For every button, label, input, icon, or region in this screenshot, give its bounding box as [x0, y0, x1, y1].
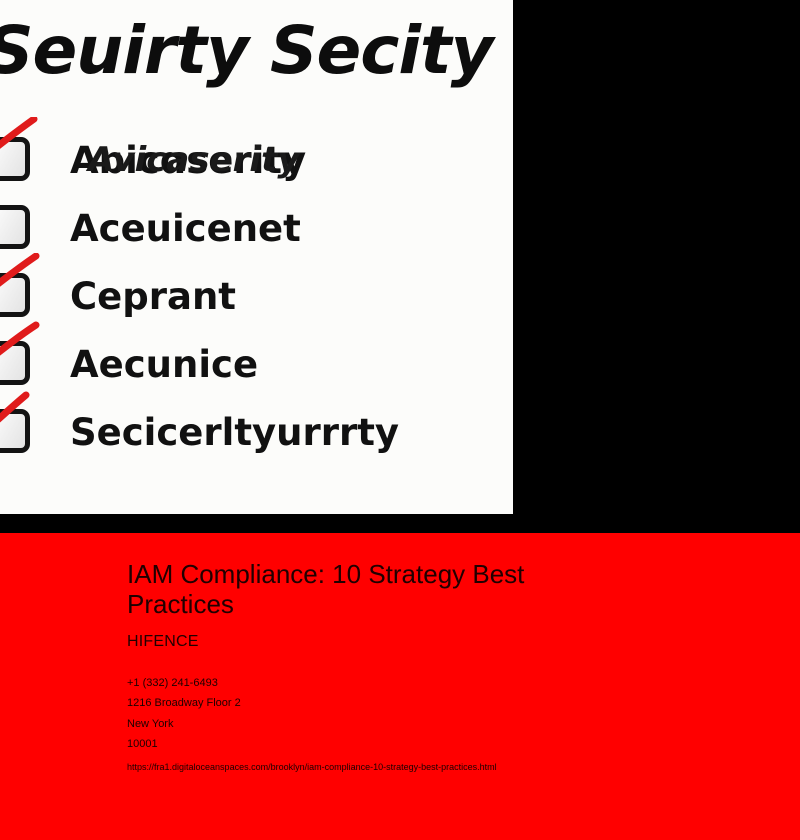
checklist-item-overlap-label: Avicaserity — [88, 143, 300, 177]
checkbox-2[interactable] — [0, 197, 44, 259]
hero-title: Seuirty Secity — [0, 18, 493, 84]
contact-block: +1 (332) 241-6493 1216 Broadway Floor 2 … — [127, 673, 727, 755]
brand-name: HIFENCE — [127, 633, 727, 651]
checkbox-square-icon — [0, 205, 30, 249]
checklist-item[interactable]: Avicaserity Aɒicɑserity — [0, 126, 513, 194]
checklist-item-label: Aecunice — [70, 346, 258, 383]
checklist-item[interactable]: Aceuicenet — [0, 194, 513, 262]
checklist-item-label: Ceprant — [70, 278, 236, 315]
contact-phone: +1 (332) 241-6493 — [127, 673, 727, 694]
source-url[interactable]: https://fra1.digitaloceanspaces.com/broo… — [127, 761, 727, 773]
checklist: Avicaserity Aɒicɑserity Aceuicenet Cepra… — [0, 126, 513, 466]
checkbox-3[interactable] — [0, 265, 44, 327]
checklist-item-text: Aecunice — [70, 343, 258, 386]
contact-city: New York — [127, 714, 727, 735]
checkbox-1[interactable] — [0, 129, 44, 191]
checklist-item-label: Secicerltyurrrty — [70, 414, 399, 451]
hero-image: Seuirty Secity Avicaserity Aɒicɑserity A… — [0, 0, 513, 514]
checklist-item-text: Secicerltyurrrty — [70, 411, 399, 454]
checkbox-square-icon — [0, 273, 30, 317]
checkbox-4[interactable] — [0, 333, 44, 395]
checklist-item-label: Aceuicenet — [70, 210, 301, 247]
checkbox-square-icon — [0, 409, 30, 453]
checklist-item-text: Aceuicenet — [70, 207, 301, 250]
contact-street: 1216 Broadway Floor 2 — [127, 693, 727, 714]
checkbox-square-icon — [0, 341, 30, 385]
info-panel: IAM Compliance: 10 Strategy Best Practic… — [0, 533, 800, 840]
checkbox-square-icon — [0, 137, 30, 181]
info-content: IAM Compliance: 10 Strategy Best Practic… — [127, 560, 727, 773]
checklist-item-label: Avicaserity Aɒicɑserity — [70, 142, 306, 179]
checklist-item[interactable]: Ceprant — [0, 262, 513, 330]
page-title: IAM Compliance: 10 Strategy Best Practic… — [127, 560, 637, 620]
checkbox-5[interactable] — [0, 401, 44, 463]
contact-postal-code: 10001 — [127, 734, 727, 755]
checklist-item[interactable]: Secicerltyurrrty — [0, 398, 513, 466]
checklist-item-text: Ceprant — [70, 275, 236, 318]
checklist-item[interactable]: Aecunice — [0, 330, 513, 398]
